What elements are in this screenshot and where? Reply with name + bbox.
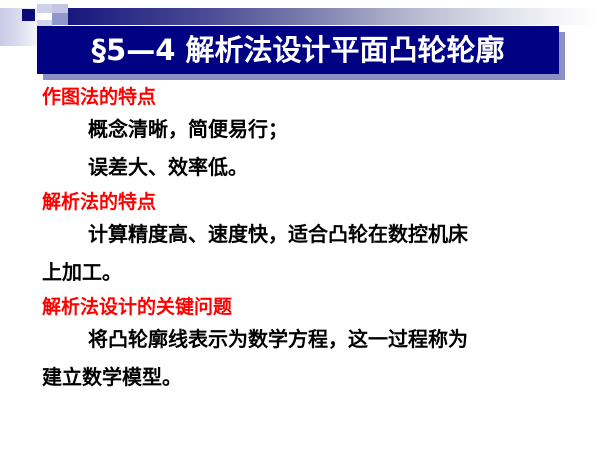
- section-1-line-2: 误差大、效率低。: [0, 148, 600, 186]
- presentation-slide: §5—4 解析法设计平面凸轮轮廓 作图法的特点 概念清晰，简便易行； 误差大、效…: [0, 0, 600, 450]
- title-plaque: §5—4 解析法设计平面凸轮轮廓: [37, 26, 559, 74]
- decoration-square-navy: [22, 9, 35, 21]
- section-3: 解析法设计的关键问题 将凸轮廓线表示为数学方程，这一过程称为 建立数学模型。: [0, 294, 600, 396]
- slide-title: §5—4 解析法设计平面凸轮轮廓: [92, 36, 505, 65]
- section-2-line-1: 计算精度高、速度快，适合凸轮在数控机床: [0, 215, 600, 253]
- section-2-line-2: 上加工。: [0, 253, 600, 291]
- section-2-heading: 解析法的特点: [0, 189, 600, 215]
- section-3-line-1: 将凸轮廓线表示为数学方程，这一过程称为: [0, 320, 600, 358]
- section-3-heading: 解析法设计的关键问题: [0, 294, 600, 320]
- section-1: 作图法的特点 概念清晰，简便易行； 误差大、效率低。: [0, 84, 600, 186]
- section-3-line-2: 建立数学模型。: [0, 358, 600, 396]
- decoration-square-light-a: [37, 4, 53, 13]
- decoration-square-mid-a: [52, 13, 68, 25]
- decoration-square-light-c: [52, 4, 68, 13]
- section-1-line-1: 概念清晰，简便易行；: [0, 110, 600, 148]
- section-2: 解析法的特点 计算精度高、速度快，适合凸轮在数控机床 上加工。: [0, 189, 600, 291]
- section-1-heading: 作图法的特点: [0, 84, 600, 110]
- slide-body: 作图法的特点 概念清晰，简便易行； 误差大、效率低。 解析法的特点 计算精度高、…: [0, 84, 600, 396]
- header-gradient-bar: [68, 8, 600, 25]
